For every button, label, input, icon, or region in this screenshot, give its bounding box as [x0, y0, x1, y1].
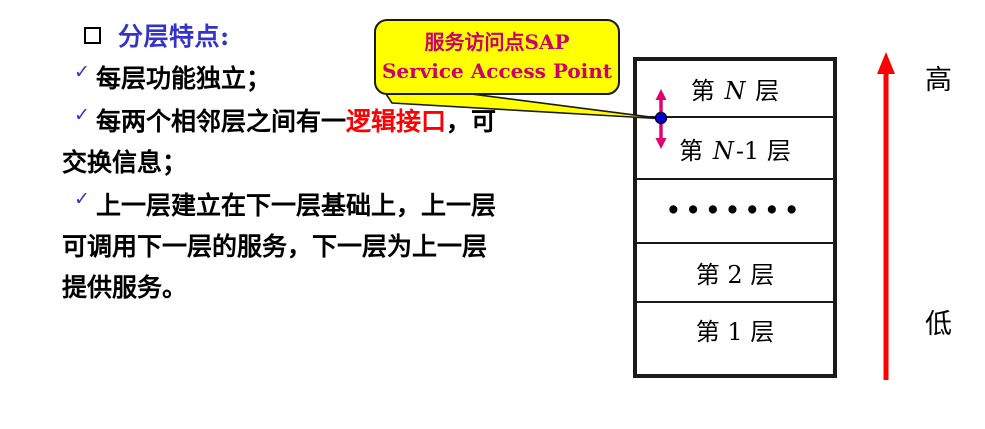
list-item: ✓ 上一层建立在下一层基础上，上一层 可调用下一层的服务，下一层为上一层 提供服…	[62, 185, 622, 308]
list-item-line-suffix: ，可	[446, 107, 496, 136]
ellipsis-dots: •••••••	[666, 197, 804, 224]
list-item-line: 每层功能独立；	[96, 64, 271, 93]
square-bullet-icon	[84, 27, 101, 44]
layer-row: 第 2 层	[637, 244, 833, 303]
list-item-line-prefix: 每两个相邻层之间有一	[96, 107, 346, 136]
layer-row-label: 第 N 层	[691, 71, 779, 106]
sap-callout-line-1: 服务访问点SAP	[425, 28, 570, 57]
sap-callout-line-2: Service Access Point	[382, 57, 612, 86]
sap-callout: 服务访问点SAP Service Access Point	[374, 19, 620, 95]
check-icon: ✓	[74, 106, 90, 125]
list-item-line: 提供服务。	[62, 267, 622, 308]
list-item-line: 交换信息；	[62, 142, 622, 183]
layer-row-label: 第 1 层	[696, 312, 775, 347]
list-item-text: 每两个相邻层之间有一逻辑接口，可 交换信息；	[96, 101, 622, 183]
list-item: ✓ 每两个相邻层之间有一逻辑接口，可 交换信息；	[62, 101, 622, 183]
layer-row-ellipsis: •••••••	[637, 180, 833, 244]
list-item-line: 上一层建立在下一层基础上，上一层	[96, 185, 622, 226]
check-icon: ✓	[74, 63, 90, 82]
slide-canvas: 分层特点: ✓ 每层功能独立； ✓ 每两个相邻层之间有一逻辑接口，可 交换信息；…	[0, 0, 985, 429]
axis-label-high: 高	[925, 58, 952, 97]
hierarchy-arrow-icon	[872, 50, 900, 380]
highlighted-term: 逻辑接口	[346, 107, 446, 136]
layer-row: 第 1 层	[637, 303, 833, 374]
layer-row-label: 第 2 层	[696, 255, 775, 290]
list-item-line: 可调用下一层的服务，下一层为上一层	[62, 226, 622, 267]
axis-label-low: 低	[925, 302, 952, 341]
sap-point-dot	[655, 112, 666, 123]
sap-interface-marker	[648, 88, 678, 150]
list-item-text: 上一层建立在下一层基础上，上一层 可调用下一层的服务，下一层为上一层 提供服务。	[96, 185, 622, 308]
check-icon: ✓	[74, 190, 90, 209]
layer-row-label: 第 N-1 层	[679, 131, 791, 166]
section-heading-label: 分层特点:	[118, 17, 230, 53]
